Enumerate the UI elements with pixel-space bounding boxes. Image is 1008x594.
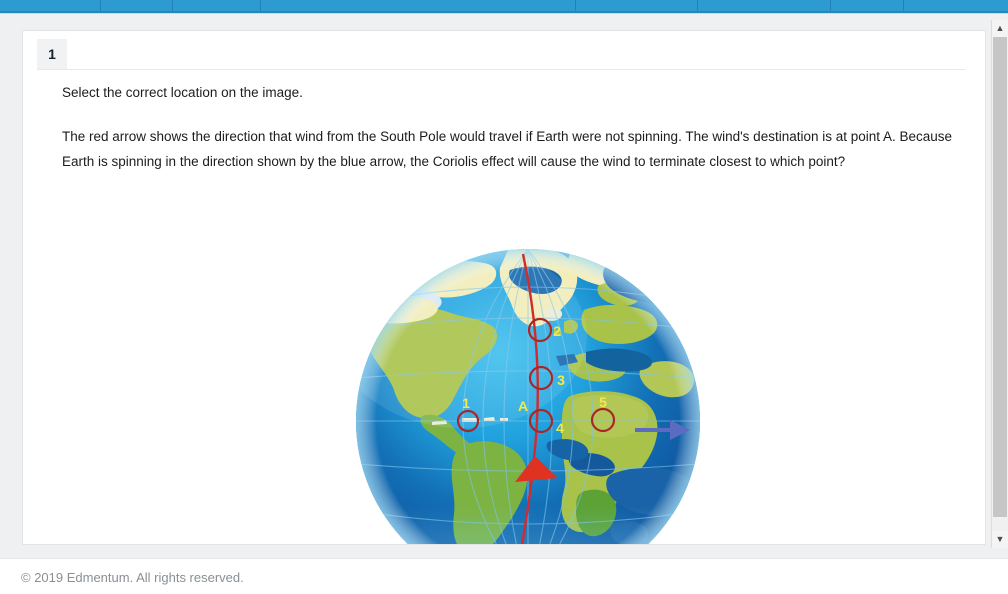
page-footer: © 2019 Edmentum. All rights reserved. — [0, 558, 1008, 594]
scroll-up-icon[interactable]: ▲ — [992, 20, 1008, 37]
scrollbar-thumb[interactable] — [993, 37, 1007, 517]
marker-2-label: 2 — [553, 323, 561, 339]
app-toolbar[interactable] — [0, 0, 1008, 13]
toolbar-divider-5 — [697, 0, 698, 11]
scroll-down-icon[interactable]: ▼ — [992, 531, 1008, 548]
scrollbar-track[interactable] — [992, 37, 1008, 531]
question-text: The red arrow shows the direction that w… — [62, 125, 962, 174]
marker-a-label: A — [518, 398, 528, 414]
marker-4-label: 4 — [556, 420, 564, 436]
question-number-badge: 1 — [37, 39, 67, 69]
marker-5-label: 5 — [599, 394, 607, 410]
marker-1-label: 1 — [462, 395, 470, 411]
toolbar-divider-4 — [575, 0, 576, 11]
toolbar-divider-1 — [100, 0, 101, 11]
toolbar-divider-7 — [903, 0, 904, 11]
vertical-scrollbar[interactable]: ▲ ▼ — [991, 20, 1008, 548]
toolbar-divider-3 — [260, 0, 261, 11]
toolbar-divider-6 — [830, 0, 831, 11]
copyright-text: © 2019 Edmentum. All rights reserved. — [21, 570, 244, 585]
instruction-text: Select the correct location on the image… — [62, 84, 303, 102]
globe-figure[interactable]: 1 2 3 4 5 A — [312, 206, 702, 545]
question-card: 1 Select the correct location on the ima… — [22, 30, 986, 545]
marker-a-destination: A — [518, 398, 528, 414]
question-header-divider — [37, 69, 965, 70]
earth-globe-svg[interactable]: 1 2 3 4 5 A — [312, 206, 702, 545]
toolbar-divider-2 — [172, 0, 173, 11]
marker-3-label: 3 — [557, 372, 565, 388]
